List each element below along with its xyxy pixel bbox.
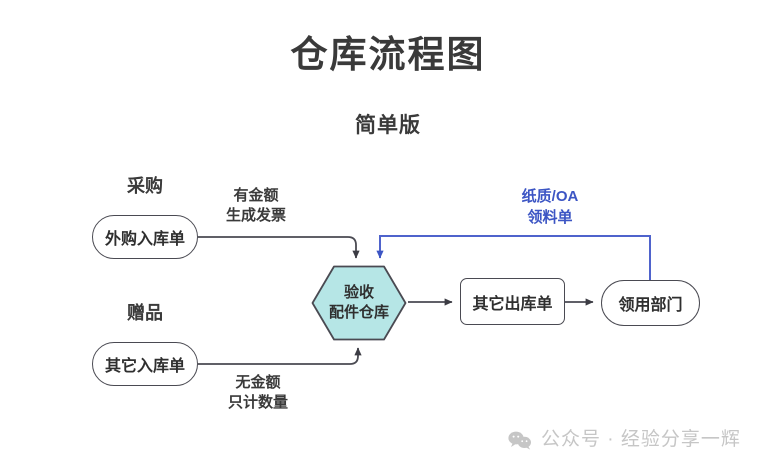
category-label-purchase: 采购 [105,176,185,196]
wire-purchase-to-hex [198,237,356,258]
edge-label-requisition-form: 纸质/OA 领料单 [480,186,620,228]
wechat-icon [508,430,532,450]
node-purchase-inbound[interactable]: 外购入库单 [92,215,198,259]
page-title: 仓库流程图 [0,32,776,78]
node-label-line1: 验收 [344,283,374,303]
flowchart-canvas: 仓库流程图 简单版 外购入库单 其它入库单 [0,0,776,469]
node-inspection-warehouse[interactable]: 验收 配件仓库 [311,265,407,341]
node-label-group: 验收 配件仓库 [311,265,407,341]
category-label-gift: 赠品 [105,303,185,323]
node-label: 其它入库单 [105,352,185,376]
node-other-inbound[interactable]: 其它入库单 [92,342,198,386]
node-label: 外购入库单 [105,225,185,249]
wire-dept-to-hex-blue [380,236,650,280]
node-label-line2: 配件仓库 [329,303,389,323]
node-other-outbound[interactable]: 其它出库单 [460,278,565,325]
edge-label-no-amount: 无金额 只计数量 [198,373,318,413]
page-subtitle: 简单版 [0,112,776,140]
watermark-text: 公众号 · 经验分享一辉 [541,427,741,453]
node-requisition-department[interactable]: 领用部门 [601,280,700,326]
wire-otherin-to-hex [198,348,358,364]
node-label: 其它出库单 [472,290,552,314]
node-label: 领用部门 [618,291,682,315]
edge-label-with-amount: 有金额 生成发票 [196,186,316,226]
watermark: 公众号 · 经验分享一辉 [508,427,741,453]
